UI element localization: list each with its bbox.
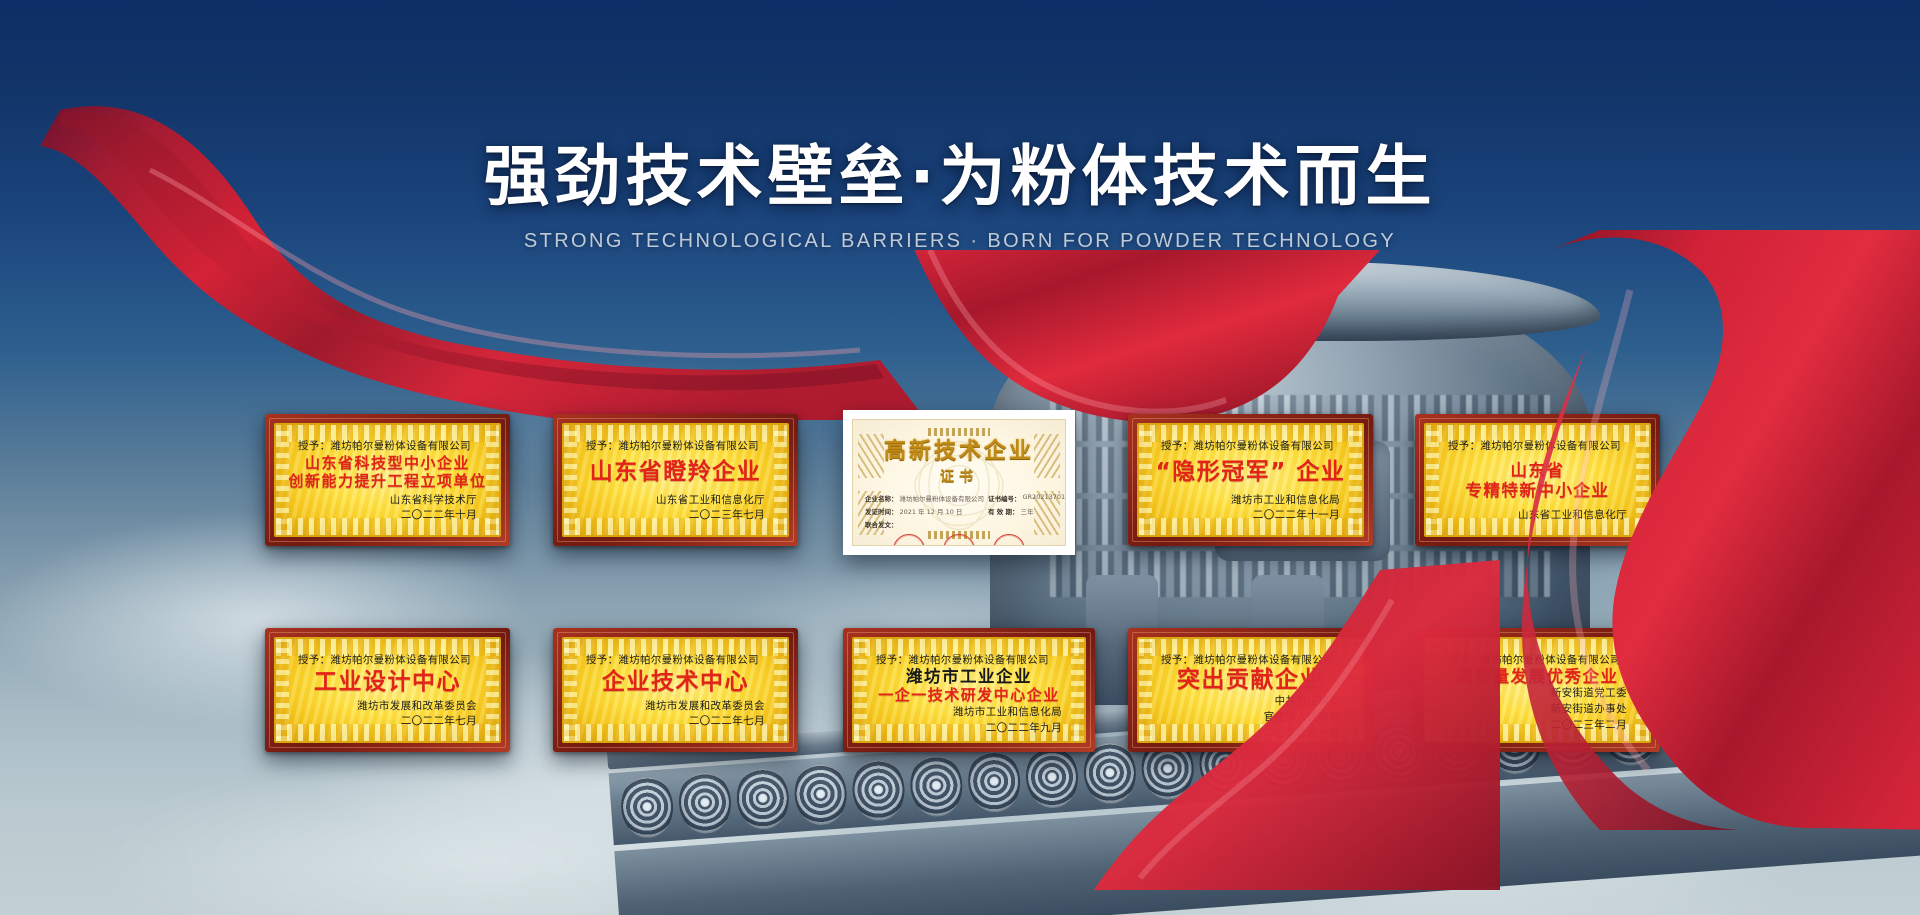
banner-stage: 强劲技术壁垒·为粉体技术而生 STRONG TECHNOLOGICAL BARR… <box>0 0 1920 915</box>
plaque-title-line: 专精特新中小企业 <box>1466 481 1610 500</box>
plaque-title-block: 山东省科技型中小企业 创新能力提升工程立项单位 <box>286 453 489 493</box>
plaque-grantee: 授予：潍坊帕尔曼粉体设备有限公司 <box>586 652 777 667</box>
plaque-issue-date: 二〇二三年二月 <box>1436 718 1627 734</box>
plaque-issue-date: 二〇二二年十月 <box>286 508 477 524</box>
honor-plaque[interactable]: 授予：潍坊帕尔曼粉体设备有限公司 “隐形冠军” 企业 潍坊市工业和信息化局 二〇… <box>1128 414 1373 546</box>
honor-plaque[interactable]: 授予：潍坊帕尔曼粉体设备有限公司 高质量发展优秀企业 新安街道党工委 新安街道办… <box>1415 628 1660 752</box>
plaque-issuer: 新安街道党工委 新安街道办事处 二〇二三年二月 <box>1436 686 1627 733</box>
plaque-issuer: 潍坊市发展和改革委员会 二〇二二年七月 <box>574 699 765 731</box>
official-seal-icon: ★ <box>943 534 975 546</box>
plaque-title-block: 工业设计中心 <box>286 667 489 699</box>
cert-field: 联合发文： <box>865 519 984 529</box>
plaque-issuer: 潍坊市发展和改革委员会 二〇二二年七月 <box>286 699 477 731</box>
plaque-title-line: 工业设计中心 <box>314 669 461 696</box>
cert-corner-ornament <box>1034 434 1060 478</box>
cert-field-value: 潍坊帕尔曼粉体设备有限公司 <box>900 493 985 503</box>
plaque-issuer: 潍坊市工业和信息化局 二〇二二年九月 <box>864 705 1062 737</box>
honor-plaque[interactable]: 授予：潍坊帕尔曼粉体设备有限公司 企业技术中心 潍坊市发展和改革委员会 二〇二二… <box>553 628 798 752</box>
plaque-issuer-line: 新安街道党工委 <box>1436 686 1627 702</box>
plaque-grantee: 授予：潍坊帕尔曼粉体设备有限公司 <box>586 438 777 453</box>
cert-field-label: 联合发文： <box>865 519 898 529</box>
plaque-issue-date: 二〇二二年九月 <box>864 721 1062 737</box>
plaque-title-block: 山东省 专精特新中小企业 <box>1436 453 1639 508</box>
cert-field-value: 三年 <box>1021 506 1034 516</box>
plaque-title-block: “隐形冠军” 企业 <box>1149 453 1352 493</box>
plaque-issuer: 山东省工业和信息化厅 二〇二三年七月 <box>574 493 765 525</box>
plaque-title-line: 一企一技术研发中心企业 <box>878 687 1060 705</box>
cert-field: 发证时间： 2021 年 12 月 10 日 <box>865 506 984 516</box>
plaque-issuer: 中共官庄镇委 官庄镇人民政府 二〇二〇年一月 <box>1149 694 1340 741</box>
plaque-issuer-line: 山东省工业和信息化厅 <box>1436 508 1627 524</box>
plaque-issuer-line: 潍坊市工业和信息化局 <box>864 705 1062 721</box>
plaque-issue-date: 二〇二三年七月 <box>574 508 765 524</box>
plaque-issuer-line: 潍坊市发展和改革委员会 <box>574 699 765 715</box>
plaque-issue-date: 二〇二二年七月 <box>286 714 477 730</box>
plaque-issuer: 山东省工业和信息化厅 <box>1436 508 1627 524</box>
plaque-grantee: 授予：潍坊帕尔曼粉体设备有限公司 <box>1448 438 1639 453</box>
honor-plaque[interactable]: 授予：潍坊帕尔曼粉体设备有限公司 潍坊市工业企业 一企一技术研发中心企业 潍坊市… <box>843 628 1095 752</box>
honor-plaque[interactable]: 授予：潍坊帕尔曼粉体设备有限公司 工业设计中心 潍坊市发展和改革委员会 二〇二二… <box>265 628 510 752</box>
cert-field-label: 证书编号： <box>988 493 1021 503</box>
cert-field-list: 企业名称： 潍坊帕尔曼粉体设备有限公司 证书编号： GR202137010102… <box>853 493 1065 529</box>
plaque-issuer-line: 山东省科学技术厅 <box>286 493 477 509</box>
official-seal-icon: ★ <box>893 534 925 546</box>
plaque-issuer: 潍坊市工业和信息化局 二〇二二年十一月 <box>1149 493 1340 525</box>
cert-seal-row: ★ ★ ★ <box>893 534 1025 546</box>
honors-grid: 授予：潍坊帕尔曼粉体设备有限公司 山东省科技型中小企业 创新能力提升工程立项单位… <box>0 0 1920 915</box>
plaque-grantee: 授予：潍坊帕尔曼粉体设备有限公司 <box>1161 652 1352 667</box>
plaque-title-block: 企业技术中心 <box>574 667 777 699</box>
plaque-issuer-line: 潍坊市发展和改革委员会 <box>286 699 477 715</box>
plaque-title-line: 突出贡献企业 <box>1177 667 1324 694</box>
plaque-title-line: “隐形冠军” 企业 <box>1156 459 1346 486</box>
cert-field: 有 效 期： 三年 <box>988 506 1066 516</box>
plaque-issuer-line: 中共官庄镇委 <box>1149 694 1340 710</box>
cert-field-label: 企业名称： <box>865 493 898 503</box>
plaque-issue-date: 二〇二〇年一月 <box>1149 726 1340 742</box>
cert-field-label: 发证时间： <box>865 506 898 516</box>
plaque-grantee: 授予：潍坊帕尔曼粉体设备有限公司 <box>298 652 489 667</box>
honor-plaque[interactable]: 授予：潍坊帕尔曼粉体设备有限公司 山东省 专精特新中小企业 山东省工业和信息化厅 <box>1415 414 1660 546</box>
cert-field-value: 2021 年 12 月 10 日 <box>900 506 963 516</box>
honor-plaque[interactable]: 授予：潍坊帕尔曼粉体设备有限公司 山东省瞪羚企业 山东省工业和信息化厅 二〇二三… <box>553 414 798 546</box>
cert-subtitle: 证书 <box>940 466 978 486</box>
cert-field-label: 有 效 期： <box>988 506 1019 516</box>
plaque-issuer-line: 潍坊市工业和信息化局 <box>1149 493 1340 509</box>
cert-field: 企业名称： 潍坊帕尔曼粉体设备有限公司 <box>865 493 984 503</box>
plaque-issuer: 山东省科学技术厅 二〇二二年十月 <box>286 493 477 525</box>
plaque-title-line: 山东省 <box>1511 461 1565 480</box>
plaque-issuer-line: 山东省工业和信息化厅 <box>574 493 765 509</box>
plaque-title-line: 创新能力提升工程立项单位 <box>288 473 486 491</box>
plaque-grantee: 授予：潍坊帕尔曼粉体设备有限公司 <box>1448 652 1639 667</box>
cert-field: 证书编号： GR202137010102 <box>988 493 1066 503</box>
plaque-title-line: 高质量发展优秀企业 <box>1457 667 1619 686</box>
plaque-issuer-line: 新安街道办事处 <box>1436 702 1627 718</box>
plaque-title-block: 潍坊市工业企业 一企一技术研发中心企业 <box>864 667 1074 705</box>
plaque-title-line: 山东省科技型中小企业 <box>305 455 470 473</box>
plaque-title-block: 突出贡献企业 <box>1149 667 1352 694</box>
plaque-issuer-line: 官庄镇人民政府 <box>1149 710 1340 726</box>
high-tech-certificate[interactable]: 高新技术企业 证书 企业名称： 潍坊帕尔曼粉体设备有限公司 证书编号： GR20… <box>843 410 1075 555</box>
plaque-grantee: 授予：潍坊帕尔曼粉体设备有限公司 <box>1161 438 1352 453</box>
plaque-grantee: 授予：潍坊帕尔曼粉体设备有限公司 <box>298 438 489 453</box>
plaque-title-block: 山东省瞪羚企业 <box>574 453 777 493</box>
plaque-title-line: 企业技术中心 <box>602 669 749 696</box>
cert-corner-ornament <box>858 434 884 478</box>
honor-plaque[interactable]: 授予：潍坊帕尔曼粉体设备有限公司 突出贡献企业 中共官庄镇委 官庄镇人民政府 二… <box>1128 628 1373 752</box>
official-seal-icon: ★ <box>993 534 1025 546</box>
cert-field-value: GR202137010102 <box>1023 493 1067 503</box>
cert-title: 高新技术企业 <box>884 433 1034 465</box>
plaque-title-block: 高质量发展优秀企业 <box>1436 667 1639 686</box>
plaque-title-line: 山东省瞪羚企业 <box>590 459 762 486</box>
honor-plaque[interactable]: 授予：潍坊帕尔曼粉体设备有限公司 山东省科技型中小企业 创新能力提升工程立项单位… <box>265 414 510 546</box>
plaque-grantee: 授予：潍坊帕尔曼粉体设备有限公司 <box>876 652 1074 667</box>
plaque-issue-date: 二〇二二年十一月 <box>1149 508 1340 524</box>
plaque-title-line: 潍坊市工业企业 <box>906 667 1032 686</box>
plaque-issue-date: 二〇二二年七月 <box>574 714 765 730</box>
